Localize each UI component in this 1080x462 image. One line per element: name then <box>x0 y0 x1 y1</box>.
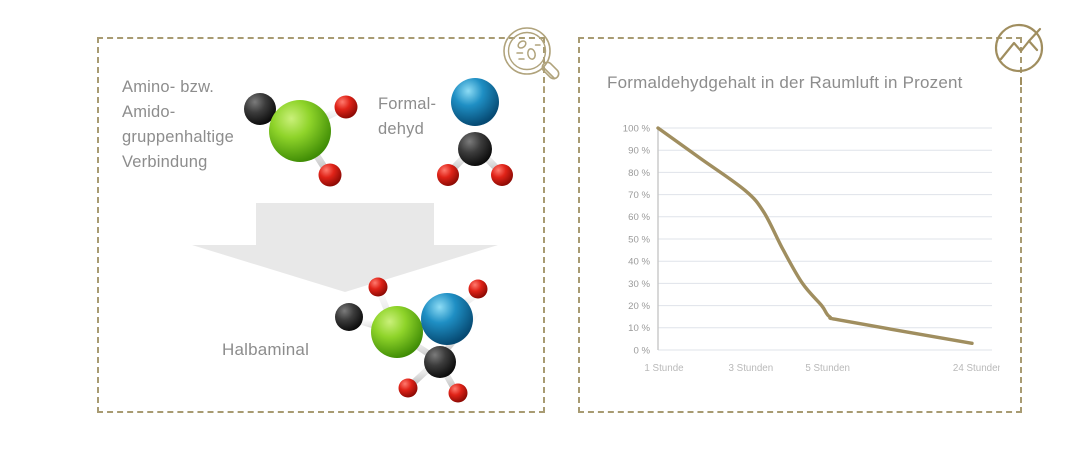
formaldehyde-molecule <box>432 70 518 192</box>
y-tick-label: 80 % <box>628 168 650 179</box>
chart-svg: 100 %90 %80 %70 %60 %50 %40 %30 %20 %10 … <box>600 118 1000 386</box>
chart-x-tick-labels: 1 Stunde3 Stunden5 Stunden24 Stunden <box>644 363 1000 374</box>
amine-molecule <box>236 78 366 193</box>
chart-title: Formaldehydgehalt in der Raumluft in Pro… <box>607 73 963 93</box>
y-tick-label: 100 % <box>623 123 651 134</box>
y-tick-label: 60 % <box>628 212 650 223</box>
x-tick-label: 24 Stunden <box>953 363 1000 374</box>
y-tick-label: 50 % <box>628 234 650 245</box>
hemiaminal-molecule <box>322 272 504 406</box>
y-tick-label: 20 % <box>628 301 650 312</box>
x-tick-label: 5 Stunden <box>805 363 850 374</box>
formaldehyde-decay-chart: 100 %90 %80 %70 %60 %50 %40 %30 %20 %10 … <box>600 118 1000 386</box>
chart-gridlines <box>658 128 992 350</box>
chart-data-line <box>658 128 972 343</box>
y-tick-label: 10 % <box>628 323 650 334</box>
y-tick-label: 70 % <box>628 190 650 201</box>
x-tick-label: 1 Stunde <box>644 363 684 374</box>
x-tick-label: 3 Stunden <box>729 363 774 374</box>
y-tick-label: 40 % <box>628 257 650 268</box>
chart-y-tick-labels: 100 %90 %80 %70 %60 %50 %40 %30 %20 %10 … <box>623 123 651 356</box>
screenshot-stage: Amino- bzw. Amido- gruppenhaltige Verbin… <box>0 0 1080 462</box>
y-tick-label: 30 % <box>628 279 650 290</box>
y-tick-label: 90 % <box>628 146 650 157</box>
y-tick-label: 0 % <box>633 345 650 356</box>
trend-chart-icon <box>988 18 1056 86</box>
